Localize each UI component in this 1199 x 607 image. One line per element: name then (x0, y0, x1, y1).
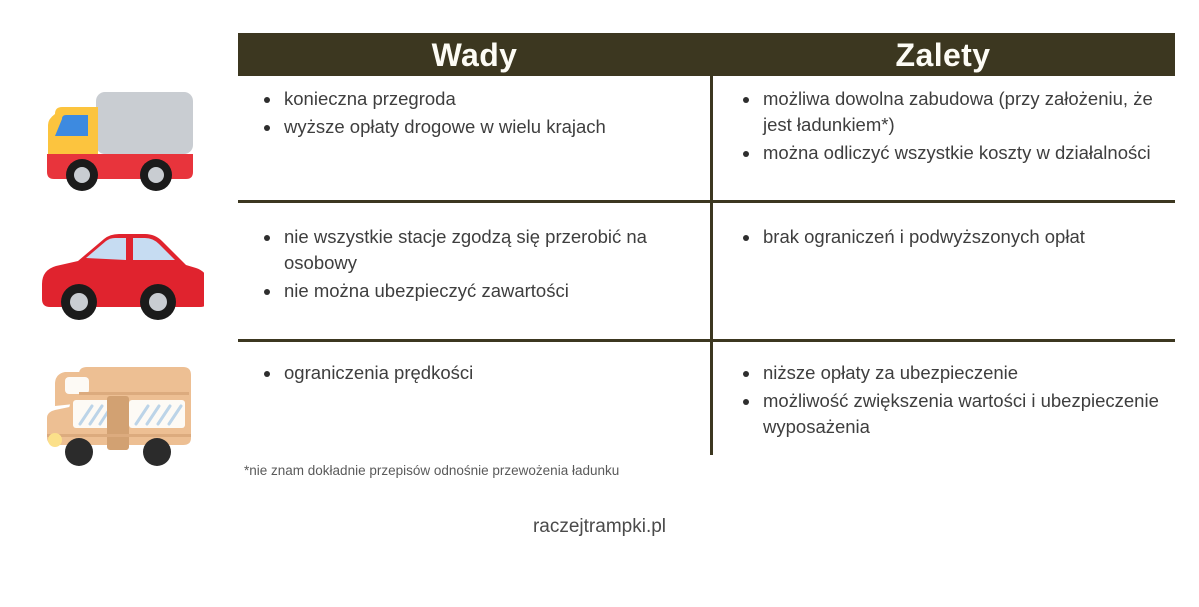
list-item: wyższe opłaty drogowe w wielu krajach (254, 114, 701, 140)
row-cons-cell: nie wszystkie stacje zgodzą się przerobi… (238, 224, 711, 324)
list-item: nie wszystkie stacje zgodzą się przerobi… (254, 224, 701, 276)
list-item: brak ograniczeń i podwyższonych opłat (733, 224, 1185, 250)
list-item: można odliczyć wszystkie koszty w działa… (733, 140, 1185, 166)
cons-list: konieczna przegroda wyższe opłaty drogow… (254, 86, 701, 140)
row-icon-passenger-car (0, 224, 238, 324)
passenger-car-icon (34, 224, 204, 324)
row-icon-delivery-truck (0, 86, 238, 194)
row-icon-camper-van (0, 360, 238, 468)
row-divider-2 (238, 339, 1175, 342)
row-pros-cell: możliwa dowolna zabudowa (przy założeniu… (711, 86, 1199, 194)
list-item: możliwość zwiększenia wartości i ubezpie… (733, 388, 1185, 440)
row-cons-cell: konieczna przegroda wyższe opłaty drogow… (238, 86, 711, 194)
column-header-wady: Wady (238, 33, 711, 76)
row-pros-cell: niższe opłaty za ubezpieczenie możliwość… (711, 360, 1199, 468)
pros-list: brak ograniczeń i podwyższonych opłat (733, 224, 1185, 250)
table-row: nie wszystkie stacje zgodzą się przerobi… (0, 224, 1199, 324)
pros-list: niższe opłaty za ubezpieczenie możliwość… (733, 360, 1185, 440)
camper-van-icon (33, 360, 205, 468)
table-row: ograniczenia prędkości niższe opłaty za … (0, 360, 1199, 468)
site-credit: raczejtrampki.pl (0, 516, 1199, 538)
infographic-page: Wady Zalety koniec (0, 0, 1199, 607)
row-pros-cell: brak ograniczeń i podwyższonych opłat (711, 224, 1199, 324)
row-cons-cell: ograniczenia prędkości (238, 360, 711, 468)
pros-list: możliwa dowolna zabudowa (przy założeniu… (733, 86, 1185, 166)
list-item: niższe opłaty za ubezpieczenie (733, 360, 1185, 386)
table-row: konieczna przegroda wyższe opłaty drogow… (0, 86, 1199, 194)
row-divider-1 (238, 200, 1175, 203)
delivery-truck-icon (35, 86, 203, 194)
list-item: ograniczenia prędkości (254, 360, 701, 386)
cons-list: ograniczenia prędkości (254, 360, 701, 386)
list-item: konieczna przegroda (254, 86, 701, 112)
table-header-bar: Wady Zalety (238, 33, 1175, 76)
list-item: nie można ubezpieczyć zawartości (254, 278, 701, 304)
column-header-zalety: Zalety (711, 33, 1175, 76)
cons-list: nie wszystkie stacje zgodzą się przerobi… (254, 224, 701, 304)
list-item: możliwa dowolna zabudowa (przy założeniu… (733, 86, 1185, 138)
footnote-text: *nie znam dokładnie przepisów odnośnie p… (244, 462, 619, 480)
